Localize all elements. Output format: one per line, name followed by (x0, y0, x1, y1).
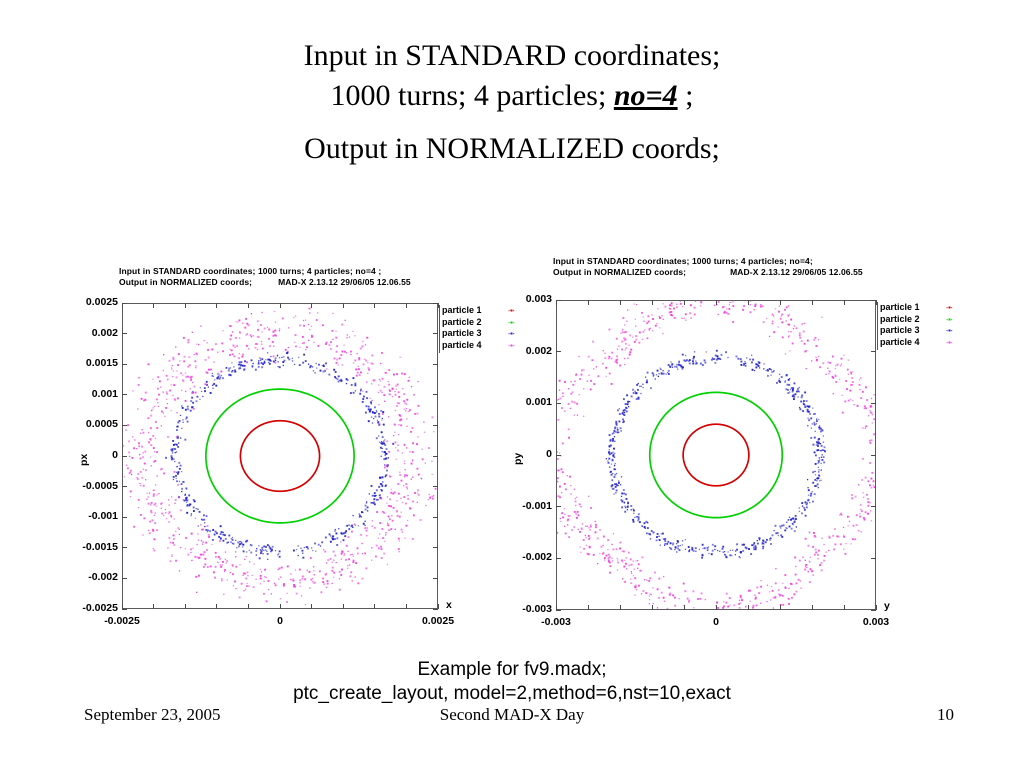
title-line-2: 1000 turns; 4 particles; no=4 ; (0, 76, 1024, 116)
y-tick-label: -0.003 (492, 603, 552, 615)
x-tick-label: -0.003 (528, 616, 584, 628)
y-tick-label: 0.001 (492, 396, 552, 408)
y-tick-right (871, 506, 876, 507)
series-3 (165, 352, 394, 560)
x-tick (716, 605, 717, 610)
x-tick (280, 604, 281, 609)
y-tick-right (433, 578, 438, 579)
legend-label: particle 4 (880, 337, 932, 349)
x-tick (185, 604, 186, 609)
figure-left-header-program: MAD-X 2.13.12 (278, 277, 338, 287)
y-tick-right (871, 558, 876, 559)
y-tick-label: 0.0025 (58, 296, 118, 308)
legend-marker-icon (946, 326, 953, 333)
figure-left-header-line2: Output in NORMALIZED coords;MAD-X 2.13.1… (119, 277, 411, 288)
legend-label: particle 2 (880, 314, 932, 326)
y-tick-right (871, 455, 876, 456)
x-tick-top (716, 300, 717, 305)
legend-item-1[interactable]: particle 1 (880, 302, 953, 314)
plot-area-right (556, 300, 876, 610)
legend-item-3[interactable]: particle 3 (880, 325, 953, 337)
y-tick-right (433, 456, 438, 457)
x-tick (812, 605, 813, 610)
legend-right: particle 1particle 2particle 3particle 4 (880, 302, 953, 348)
scatter-canvas-right (557, 301, 875, 609)
figure-left-header-line2-text: Output in NORMALIZED coords; (119, 277, 252, 287)
y-tick-label: -0.001 (58, 510, 118, 522)
figure-left-x-px: Input in STANDARD coordinates; 1000 turn… (46, 258, 526, 638)
legend-label: particle 1 (442, 305, 494, 317)
legend-marker-icon (946, 338, 953, 345)
x-tick-top (588, 300, 589, 305)
y-tick-label: -0.0015 (58, 541, 118, 553)
figure-right-header-line2: Output in NORMALIZED coords;MAD-X 2.13.1… (553, 267, 863, 278)
x-tick (438, 604, 439, 609)
y-tick (122, 394, 127, 395)
figure-right-header: Input in STANDARD coordinates; 1000 turn… (553, 256, 863, 279)
y-tick (122, 364, 127, 365)
y-tick-label: 0.001 (58, 388, 118, 400)
series-1 (683, 424, 749, 486)
x-tick (620, 605, 621, 610)
x-tick (122, 604, 123, 609)
legend-item-2[interactable]: particle 2 (880, 314, 953, 326)
y-tick (122, 303, 127, 304)
legend-label: particle 1 (880, 302, 932, 314)
y-tick (122, 333, 127, 334)
legend-label: particle 4 (442, 340, 494, 352)
x-tick-top (122, 303, 123, 308)
legend-bracket (877, 302, 878, 350)
figure-left-header: Input in STANDARD coordinates; 1000 turn… (119, 266, 411, 289)
y-tick (556, 351, 561, 352)
y-tick (122, 517, 127, 518)
x-tick (374, 604, 375, 609)
x-tick-top (216, 303, 217, 308)
x-axis-title-right: y (884, 600, 890, 612)
y-tick-label: -0.002 (58, 571, 118, 583)
x-tick-label: 0.0025 (410, 615, 466, 627)
slide-canvas: Input in STANDARD coordinates; 1000 turn… (0, 0, 1024, 768)
y-tick (122, 609, 127, 610)
y-tick-label: -0.001 (492, 500, 552, 512)
y-tick (556, 455, 561, 456)
y-tick (122, 456, 127, 457)
y-tick-right (433, 394, 438, 395)
y-tick-right (871, 351, 876, 352)
legend-label: particle 3 (880, 325, 932, 337)
x-tick (652, 605, 653, 610)
caption-line-2: ptc_create_layout, model=2,method=6,nst=… (0, 682, 1024, 706)
title-line-1: Input in STANDARD coordinates; (0, 36, 1024, 76)
caption-line-1: Example for fv9.madx; (0, 658, 1024, 682)
legend-marker-icon (946, 315, 953, 322)
y-tick (556, 558, 561, 559)
x-tick (748, 605, 749, 610)
series-4 (123, 308, 437, 606)
x-tick-top (812, 300, 813, 305)
y-tick (556, 506, 561, 507)
x-tick (876, 605, 877, 610)
x-tick (153, 604, 154, 609)
figure-right-header-program: MAD-X 2.13.12 (730, 267, 790, 277)
x-axis-title-left: x (446, 599, 452, 611)
legend-item-4[interactable]: particle 4 (880, 337, 953, 349)
figure-right-header-line2-text: Output in NORMALIZED coords; (553, 267, 686, 277)
title-line-2-text: 1000 turns; 4 particles; (331, 79, 614, 112)
y-tick-right (433, 517, 438, 518)
y-tick-label: 0.002 (492, 345, 552, 357)
x-tick-top (311, 303, 312, 308)
y-axis-title-left: px (78, 454, 90, 466)
series-3 (606, 350, 826, 559)
y-tick-label: -0.0025 (58, 602, 118, 614)
y-tick-label: 0.0015 (58, 357, 118, 369)
y-axis-title-right: py (512, 453, 524, 465)
x-tick-top (374, 303, 375, 308)
x-tick-top (185, 303, 186, 308)
x-tick-label: 0 (252, 615, 308, 627)
x-tick-top (343, 303, 344, 308)
title-emphasis-no4: no=4 (614, 79, 678, 112)
x-tick (216, 604, 217, 609)
plot-area-left (122, 303, 438, 609)
y-tick (122, 486, 127, 487)
x-tick (588, 605, 589, 610)
x-tick-top (248, 303, 249, 308)
figure-right-y-py: Input in STANDARD coordinates; 1000 turn… (500, 252, 1000, 638)
x-tick-top (620, 300, 621, 305)
y-tick (122, 578, 127, 579)
slide-title: Input in STANDARD coordinates; 1000 turn… (0, 36, 1024, 169)
y-tick (556, 610, 561, 611)
x-tick-top (780, 300, 781, 305)
footer-event: Second MAD-X Day (0, 705, 1024, 725)
x-tick (780, 605, 781, 610)
series-2 (650, 392, 783, 517)
series-1 (240, 421, 319, 492)
y-tick-right (433, 425, 438, 426)
slide-footer: September 23, 2005 Second MAD-X Day 10 (0, 705, 1024, 735)
footer-page-number: 10 (937, 705, 954, 725)
legend-label: particle 3 (442, 328, 494, 340)
figure-right-header-line1: Input in STANDARD coordinates; 1000 turn… (553, 256, 863, 267)
x-tick-top (153, 303, 154, 308)
y-tick (556, 300, 561, 301)
y-tick-label: -0.002 (492, 551, 552, 563)
x-tick-top (406, 303, 407, 308)
x-tick-top (748, 300, 749, 305)
series-4 (557, 301, 875, 609)
x-tick-label: 0 (688, 616, 744, 628)
title-line-3: Output in NORMALIZED coords; (0, 129, 1024, 169)
y-tick (556, 403, 561, 404)
legend-bracket (439, 305, 440, 353)
x-tick (684, 605, 685, 610)
figure-left-header-line1: Input in STANDARD coordinates; 1000 turn… (119, 266, 411, 277)
x-tick (556, 605, 557, 610)
x-tick (311, 604, 312, 609)
legend-label: particle 2 (442, 317, 494, 329)
series-2 (206, 389, 354, 523)
y-tick-right (433, 547, 438, 548)
legend-marker-icon (946, 303, 953, 310)
x-tick-label: -0.0025 (94, 615, 150, 627)
y-tick-label: 0.002 (58, 327, 118, 339)
title-line-2-tail: ; (678, 79, 694, 112)
y-tick-right (871, 403, 876, 404)
y-tick-right (433, 333, 438, 334)
figure-right-header-date: 29/06/05 12.06.55 (792, 267, 862, 277)
x-tick (406, 604, 407, 609)
y-tick (122, 547, 127, 548)
x-tick-top (556, 300, 557, 305)
x-tick (343, 604, 344, 609)
scatter-canvas-left (123, 304, 437, 608)
x-tick-top (844, 300, 845, 305)
y-tick-right (433, 486, 438, 487)
y-tick-right (433, 364, 438, 365)
x-tick (844, 605, 845, 610)
y-tick-label: 0.0005 (58, 418, 118, 430)
x-tick (248, 604, 249, 609)
y-tick (122, 425, 127, 426)
figure-left-header-date: 29/06/05 12.06.55 (340, 277, 410, 287)
y-tick-label: -0.0005 (58, 480, 118, 492)
x-tick-label: 0.003 (848, 616, 904, 628)
x-tick-top (684, 300, 685, 305)
x-tick-top (652, 300, 653, 305)
slide-caption: Example for fv9.madx; ptc_create_layout,… (0, 658, 1024, 707)
x-tick-top (280, 303, 281, 308)
y-tick-label: 0.003 (492, 293, 552, 305)
